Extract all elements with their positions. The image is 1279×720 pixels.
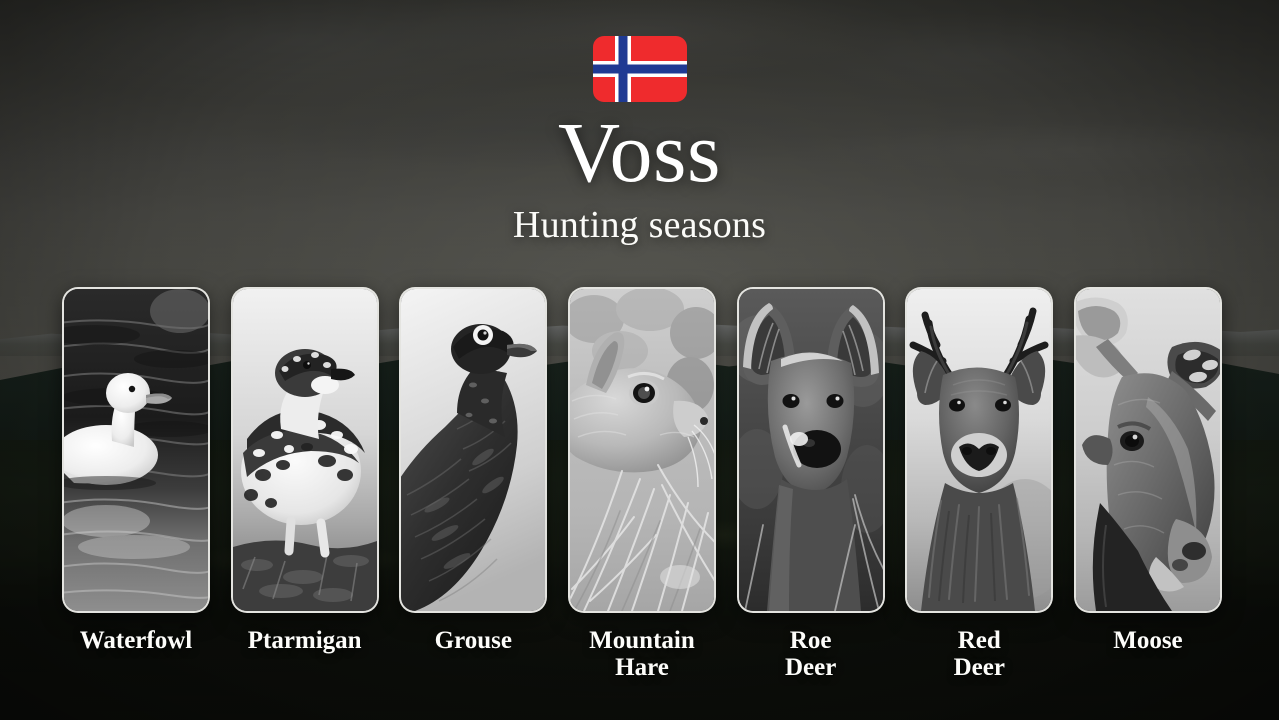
waterfowl-photo[interactable] [62,287,210,613]
mountain-hare-photo[interactable] [568,287,716,613]
ptarmigan-photo[interactable] [231,287,379,613]
species-label: Ptarmigan [248,627,362,654]
page-header: Voss Hunting seasons [0,0,1279,244]
roe-deer-photo[interactable] [737,287,885,613]
species-label: Waterfowl [80,627,192,654]
grouse-photo[interactable] [399,287,547,613]
species-card-red-deer[interactable]: Red Deer [905,287,1053,681]
species-card-ptarmigan[interactable]: Ptarmigan [231,287,379,654]
species-card-roe-deer[interactable]: Roe Deer [737,287,885,681]
species-card-mountain-hare[interactable]: Mountain Hare [568,287,716,681]
page-subtitle: Hunting seasons [513,206,766,244]
species-label: Grouse [435,627,512,654]
species-card-waterfowl[interactable]: Waterfowl [62,287,210,654]
page-title: Voss [558,110,721,194]
page-root: Voss Hunting seasons [0,0,1279,720]
species-label: Roe Deer [785,627,836,681]
species-card-moose[interactable]: Moose [1074,287,1222,654]
species-label: Red Deer [954,627,1005,681]
species-label: Mountain Hare [589,627,695,681]
norway-flag-icon [593,36,687,102]
red-deer-photo[interactable] [905,287,1053,613]
moose-photo[interactable] [1074,287,1222,613]
species-card-grouse[interactable]: Grouse [399,287,547,654]
species-label: Moose [1113,627,1182,654]
species-list: Waterfowl [62,287,1222,681]
